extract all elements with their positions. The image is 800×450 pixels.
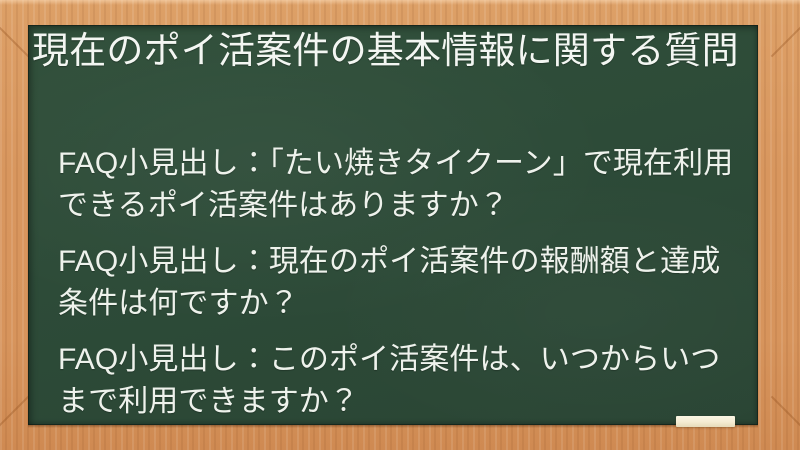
chalkboard-surface: 現在のポイ活案件の基本情報に関する質問 FAQ小見出し：「たい焼きタイクーン」で… <box>28 25 758 425</box>
board-content: 現在のポイ活案件の基本情報に関する質問 FAQ小見出し：「たい焼きタイクーン」で… <box>28 25 758 425</box>
faq-list: FAQ小見出し：「たい焼きタイクーン」で現在利用できるポイ活案件はありますか？ … <box>58 143 748 423</box>
faq-item: FAQ小見出し：「たい焼きタイクーン」で現在利用できるポイ活案件はありますか？ <box>58 143 748 227</box>
chalk-stick <box>676 416 735 427</box>
chalkboard-screenshot: 現在のポイ活案件の基本情報に関する質問 FAQ小見出し：「たい焼きタイクーン」で… <box>0 0 800 450</box>
faq-item: FAQ小見出し：現在のポイ活案件の報酬額と達成条件は何ですか？ <box>58 241 748 325</box>
page-title: 現在のポイ活案件の基本情報に関する質問 <box>32 27 748 74</box>
faq-item: FAQ小見出し：このポイ活案件は、いつからいつまで利用できますか？ <box>58 339 748 423</box>
